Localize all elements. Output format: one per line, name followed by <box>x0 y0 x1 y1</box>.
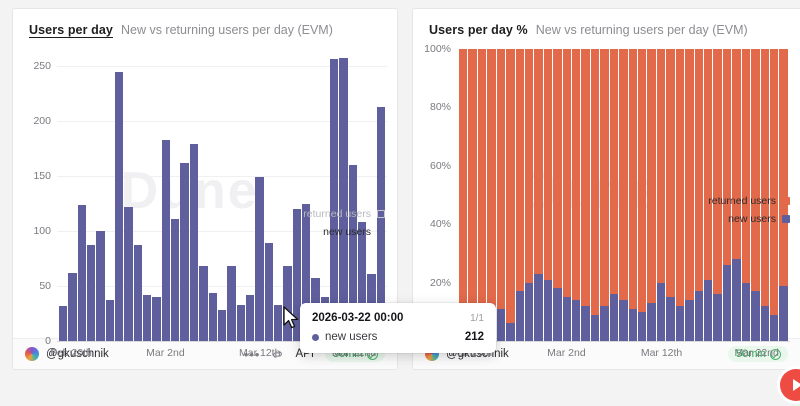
bar-segment-new-users[interactable] <box>190 144 198 341</box>
bar-segment-new-users[interactable] <box>591 315 599 341</box>
bar-segment-returned-users[interactable] <box>516 49 524 291</box>
chart-bar[interactable] <box>358 49 366 341</box>
bar-segment-returned-users[interactable] <box>534 49 542 274</box>
bar-segment-returned-users[interactable] <box>459 49 467 329</box>
panel-right-header: Users per day % New vs returning users p… <box>413 9 800 39</box>
bar-segment-returned-users[interactable] <box>610 49 618 294</box>
bar-segment-returned-users[interactable] <box>638 49 646 312</box>
chart-bar[interactable] <box>199 49 207 341</box>
panel-left-title[interactable]: Users per day <box>29 23 113 37</box>
legend-item[interactable]: new users <box>728 213 790 225</box>
bar-segment-returned-users[interactable] <box>478 49 486 321</box>
bar-segment-new-users[interactable] <box>666 297 674 341</box>
chart-bar[interactable] <box>487 49 495 341</box>
bar-segment-new-users[interactable] <box>742 283 750 341</box>
bar-segment-returned-users[interactable] <box>468 49 476 318</box>
chart-bar[interactable] <box>591 49 599 341</box>
bar-segment-new-users[interactable] <box>704 280 712 341</box>
chart-bar[interactable] <box>638 49 646 341</box>
tooltip-series-name: new users <box>325 331 377 343</box>
bar-segment-new-users[interactable] <box>525 283 533 341</box>
chart-bar[interactable] <box>468 49 476 341</box>
bar-segment-returned-users[interactable] <box>525 49 533 283</box>
bar-segment-returned-users[interactable] <box>629 49 637 309</box>
chart-bar[interactable] <box>162 49 170 341</box>
bar-segment-returned-users[interactable] <box>591 49 599 315</box>
bar-segment-new-users[interactable] <box>506 323 514 341</box>
chart-bar[interactable] <box>68 49 76 341</box>
chart-bar[interactable] <box>274 49 282 341</box>
bar-segment-new-users[interactable] <box>265 243 273 341</box>
chart-bar[interactable] <box>367 49 375 341</box>
chart-bar[interactable] <box>657 49 665 341</box>
chart-bar[interactable] <box>59 49 67 341</box>
chart-bar[interactable] <box>255 49 263 341</box>
x-tick-label: Mar 2nd <box>547 347 586 359</box>
chart-bar[interactable] <box>96 49 104 341</box>
chart-bar[interactable] <box>246 49 254 341</box>
bar-segment-returned-users[interactable] <box>685 49 693 300</box>
record-button[interactable] <box>780 369 800 401</box>
chart-bar[interactable] <box>525 49 533 341</box>
chart-bar[interactable] <box>600 49 608 341</box>
bar-segment-new-users[interactable] <box>255 177 263 341</box>
bar-segment-returned-users[interactable] <box>676 49 684 306</box>
bar-segment-new-users[interactable] <box>68 273 76 341</box>
chart-bar[interactable] <box>563 49 571 341</box>
legend-item-label: returned users <box>303 208 371 220</box>
bar-segment-returned-users[interactable] <box>600 49 608 306</box>
y-axis-left: 050100150200250 <box>13 45 57 363</box>
bar-segment-new-users[interactable] <box>657 283 665 341</box>
chart-bar[interactable] <box>227 49 235 341</box>
chart-bar[interactable] <box>321 49 329 341</box>
bar-segment-new-users[interactable] <box>723 265 731 341</box>
legend-item[interactable]: new users <box>323 226 385 238</box>
bar-segment-new-users[interactable] <box>143 295 151 341</box>
bar-segment-new-users[interactable] <box>713 294 721 341</box>
bar-segment-returned-users[interactable] <box>770 49 778 315</box>
chart-bar[interactable] <box>180 49 188 341</box>
app-screen: Users per day New vs returning users per… <box>0 0 800 406</box>
chart-bar[interactable] <box>377 49 385 341</box>
bar-segment-new-users[interactable] <box>610 294 618 341</box>
chart-bar[interactable] <box>685 49 693 341</box>
bar-segment-new-users[interactable] <box>330 59 338 341</box>
bar-segment-returned-users[interactable] <box>619 49 627 300</box>
bar-segment-new-users[interactable] <box>619 300 627 341</box>
bar-segment-returned-users[interactable] <box>704 49 712 280</box>
axis-baseline <box>457 341 790 342</box>
bar-segment-returned-users[interactable] <box>487 49 495 315</box>
legend-swatch <box>377 228 385 236</box>
bar-segment-new-users[interactable] <box>237 305 245 341</box>
bar-segment-new-users[interactable] <box>246 295 254 341</box>
bar-segment-returned-users[interactable] <box>761 49 769 306</box>
bar-segment-new-users[interactable] <box>209 293 217 341</box>
bar-segment-new-users[interactable] <box>87 245 95 341</box>
tooltip-pagination: 1/1 <box>470 313 484 324</box>
bar-segment-returned-users[interactable] <box>657 49 665 283</box>
legend-right[interactable]: returned usersnew users <box>708 195 790 225</box>
chart-bar[interactable] <box>302 49 310 341</box>
legend-swatch <box>377 210 385 218</box>
tooltip-date: 2026-03-22 00:00 <box>312 312 403 324</box>
chart-bar[interactable] <box>124 49 132 341</box>
legend-swatch <box>782 197 790 205</box>
chart-bar[interactable] <box>459 49 467 341</box>
series-color-dot <box>312 334 319 341</box>
bar-segment-new-users[interactable] <box>497 309 505 341</box>
x-tick-label: Mar 12th <box>239 347 280 359</box>
tooltip-series-value: 212 <box>465 331 484 343</box>
bar-segment-new-users[interactable] <box>544 280 552 341</box>
x-tick-label: Mar 12th <box>641 347 682 359</box>
bar-segment-returned-users[interactable] <box>647 49 655 303</box>
chart-bar[interactable] <box>695 49 703 341</box>
bar-segment-returned-users[interactable] <box>751 49 759 291</box>
bar-segment-returned-users[interactable] <box>723 49 731 265</box>
chart-bar[interactable] <box>572 49 580 341</box>
bar-segment-returned-users[interactable] <box>732 49 740 259</box>
y-tick-label: 200 <box>33 115 51 127</box>
chart-bar[interactable] <box>218 49 226 341</box>
chart-bar[interactable] <box>506 49 514 341</box>
chart-bar[interactable] <box>311 49 319 341</box>
chart-bar[interactable] <box>152 49 160 341</box>
bar-segment-new-users[interactable] <box>647 303 655 341</box>
y-tick-label: 100 <box>33 225 51 237</box>
y-tick-label: 50 <box>39 280 51 292</box>
bar-segment-new-users[interactable] <box>676 306 684 341</box>
y-tick-label: 0 <box>45 335 51 347</box>
chart-bar[interactable] <box>190 49 198 341</box>
y-tick-label: 100% <box>424 43 451 55</box>
bar-segment-new-users[interactable] <box>695 291 703 341</box>
legend-item[interactable]: returned users <box>303 208 385 220</box>
play-icon <box>793 379 800 391</box>
bar-segment-new-users[interactable] <box>638 312 646 341</box>
bar-segment-returned-users[interactable] <box>695 49 703 291</box>
bar-segment-new-users[interactable] <box>572 300 580 341</box>
bar-segment-new-users[interactable] <box>534 274 542 341</box>
chart-bar[interactable] <box>171 49 179 341</box>
bar-segment-new-users[interactable] <box>553 288 561 341</box>
x-tick-label: Mar 2nd <box>146 347 185 359</box>
chart-bar[interactable] <box>115 49 123 341</box>
bar-segment-new-users[interactable] <box>78 205 86 341</box>
bar-segment-returned-users[interactable] <box>713 49 721 294</box>
bar-segment-new-users[interactable] <box>629 309 637 341</box>
bar-segment-returned-users[interactable] <box>497 49 505 309</box>
panel-right-subtitle: New vs returning users per day (EVM) <box>536 23 748 37</box>
chart-bar[interactable] <box>106 49 114 341</box>
tooltip-series-row: new users 212 <box>312 331 484 343</box>
chart-bar[interactable] <box>209 49 217 341</box>
chart-bar[interactable] <box>478 49 486 341</box>
bar-segment-new-users[interactable] <box>732 259 740 341</box>
bar-segment-returned-users[interactable] <box>581 49 589 306</box>
mouse-cursor <box>283 306 301 337</box>
bar-segment-returned-users[interactable] <box>742 49 750 283</box>
chart-bar[interactable] <box>293 49 301 341</box>
bar-segment-new-users[interactable] <box>516 291 524 341</box>
bar-segment-returned-users[interactable] <box>572 49 580 300</box>
bar-segment-new-users[interactable] <box>171 219 179 341</box>
chart-bar[interactable] <box>265 49 273 341</box>
chart-bar[interactable] <box>237 49 245 341</box>
x-tick-label: Mar 22nd <box>735 347 779 359</box>
bar-segment-returned-users[interactable] <box>506 49 514 323</box>
bar-segment-new-users[interactable] <box>124 207 132 341</box>
tooltip-header: 2026-03-22 00:00 1/1 <box>312 312 484 324</box>
bar-segment-new-users[interactable] <box>134 245 142 341</box>
y-tick-label: 60% <box>430 160 451 172</box>
bar-segment-new-users[interactable] <box>115 72 123 341</box>
chart-bar[interactable] <box>143 49 151 341</box>
x-tick-label: Feb 20th <box>50 347 91 359</box>
chart-bar[interactable] <box>87 49 95 341</box>
bar-segment-new-users[interactable] <box>779 286 787 341</box>
legend-swatch <box>782 215 790 223</box>
bar-segment-new-users[interactable] <box>218 310 226 341</box>
panel-left-header: Users per day New vs returning users per… <box>13 9 397 39</box>
panel-left-subtitle: New vs returning users per day (EVM) <box>121 23 333 37</box>
bar-series-new-users[interactable] <box>59 49 385 341</box>
bar-segment-returned-users[interactable] <box>779 49 787 286</box>
bar-segment-new-users[interactable] <box>96 231 104 341</box>
bar-segment-new-users[interactable] <box>106 300 114 341</box>
bar-segment-new-users[interactable] <box>339 58 347 341</box>
chart-bar[interactable] <box>553 49 561 341</box>
y-tick-label: 20% <box>430 277 451 289</box>
bar-segment-new-users[interactable] <box>199 266 207 341</box>
bar-segment-new-users[interactable] <box>152 297 160 341</box>
x-axis-right: Feb 20thMar 2ndMar 12thMar 22nd <box>457 343 790 363</box>
chart-bar[interactable] <box>534 49 542 341</box>
bar-segment-new-users[interactable] <box>685 300 693 341</box>
bar-segment-new-users[interactable] <box>770 315 778 341</box>
panel-right-title[interactable]: Users per day % <box>429 23 528 37</box>
bar-segment-new-users[interactable] <box>581 306 589 341</box>
bar-segment-returned-users[interactable] <box>563 49 571 297</box>
legend-left[interactable]: returned usersnew users <box>303 208 385 238</box>
bar-segment-new-users[interactable] <box>227 266 235 341</box>
legend-item-label: returned users <box>708 195 776 207</box>
chart-bar[interactable] <box>666 49 674 341</box>
chart-bar[interactable] <box>349 49 357 341</box>
y-tick-label: 40% <box>430 218 451 230</box>
chart-bar[interactable] <box>676 49 684 341</box>
y-tick-label: 150 <box>33 170 51 182</box>
chart-tooltip: 2026-03-22 00:00 1/1 new users 212 <box>300 303 496 353</box>
chart-bar[interactable] <box>283 49 291 341</box>
bar-segment-new-users[interactable] <box>180 163 188 342</box>
bar-segment-new-users[interactable] <box>274 305 282 341</box>
chart-bar[interactable] <box>629 49 637 341</box>
bar-segment-new-users[interactable] <box>751 291 759 341</box>
legend-item-label: new users <box>728 213 776 225</box>
chart-bar[interactable] <box>516 49 524 341</box>
bar-segment-new-users[interactable] <box>563 297 571 341</box>
chart-bar[interactable] <box>330 49 338 341</box>
bar-segment-new-users[interactable] <box>761 306 769 341</box>
chart-bar[interactable] <box>497 49 505 341</box>
bar-segment-returned-users[interactable] <box>553 49 561 288</box>
legend-item-label: new users <box>323 226 371 238</box>
bar-segment-new-users[interactable] <box>600 306 608 341</box>
chart-bar[interactable] <box>647 49 655 341</box>
bar-segment-new-users[interactable] <box>162 140 170 341</box>
chart-bar[interactable] <box>78 49 86 341</box>
chart-bar[interactable] <box>619 49 627 341</box>
chart-bar[interactable] <box>544 49 552 341</box>
chart-bar[interactable] <box>610 49 618 341</box>
legend-item[interactable]: returned users <box>708 195 790 207</box>
y-tick-label: 80% <box>430 101 451 113</box>
bar-segment-returned-users[interactable] <box>666 49 674 297</box>
bar-segment-returned-users[interactable] <box>544 49 552 280</box>
chart-bar[interactable] <box>134 49 142 341</box>
chart-bar[interactable] <box>339 49 347 341</box>
chart-bar[interactable] <box>581 49 589 341</box>
bar-segment-new-users[interactable] <box>59 306 67 341</box>
y-tick-label: 250 <box>33 60 51 72</box>
